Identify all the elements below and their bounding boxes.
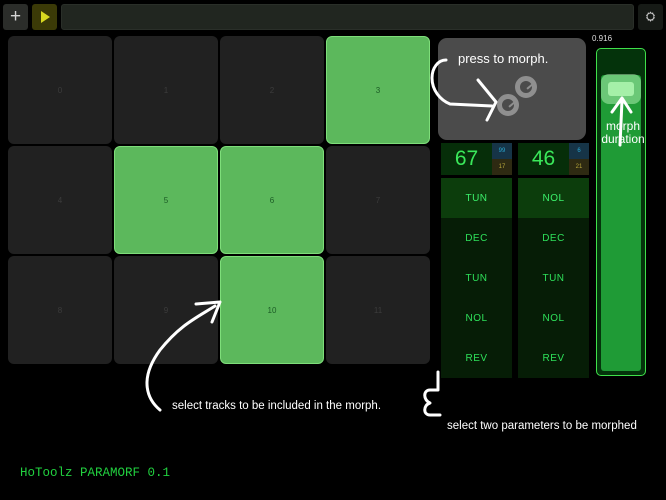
track-cell[interactable]: 2 xyxy=(220,36,324,144)
track-cell-label: 11 xyxy=(374,306,382,315)
slider-handle[interactable] xyxy=(601,74,641,104)
readout-b-badge-top: 6 xyxy=(569,143,589,159)
play-button[interactable] xyxy=(32,4,57,30)
readout-a[interactable]: 67 99 17 xyxy=(441,143,512,175)
annotation-select-params: select two parameters to be morphed xyxy=(447,420,637,432)
readout-a-badges: 99 17 xyxy=(492,143,512,175)
annotation-morph-duration: morph duration xyxy=(592,120,654,146)
annotation-morph-duration-line2: duration xyxy=(592,133,654,146)
app-title-footer: HoToolz PARAMORF 0.1 xyxy=(20,466,170,480)
track-cell-label: 1 xyxy=(164,86,168,95)
knob-tick xyxy=(526,82,534,89)
track-cell-label: 10 xyxy=(268,306,277,315)
parameter-column-b: NOL DEC TUN NOL REV xyxy=(518,178,589,378)
settings-button[interactable] xyxy=(638,4,663,30)
play-icon xyxy=(41,11,50,23)
parameter-column-a: TUN DEC TUN NOL REV xyxy=(441,178,512,378)
track-cell-label: 5 xyxy=(164,196,168,205)
annotation-select-tracks: select tracks to be included in the morp… xyxy=(172,400,381,412)
readout-b-badge-bottom: 21 xyxy=(569,159,589,175)
top-toolbar: + xyxy=(0,0,666,33)
track-cell[interactable]: 6 xyxy=(220,146,324,254)
track-cell[interactable]: 11 xyxy=(326,256,430,364)
track-cell[interactable]: 1 xyxy=(114,36,218,144)
readout-a-badge-bottom: 17 xyxy=(492,159,512,175)
track-cell-label: 7 xyxy=(376,196,380,205)
param-item-a-4[interactable]: REV xyxy=(441,338,512,378)
track-cell-label: 3 xyxy=(376,86,380,95)
track-cell[interactable]: 10 xyxy=(220,256,324,364)
readout-b-value: 46 xyxy=(518,143,569,175)
track-grid: 0 1 2 3 4 5 6 7 8 9 10 11 xyxy=(8,36,432,366)
morph-duration-slider[interactable]: 0.916 xyxy=(596,36,648,378)
track-cell[interactable]: 8 xyxy=(8,256,112,364)
readout-a-value: 67 xyxy=(441,143,492,175)
readout-b[interactable]: 46 6 21 xyxy=(518,143,589,175)
track-cell-label: 0 xyxy=(58,86,62,95)
param-item-a-0[interactable]: TUN xyxy=(441,178,512,218)
track-cell[interactable]: 5 xyxy=(114,146,218,254)
param-item-a-1[interactable]: DEC xyxy=(441,218,512,258)
track-cell[interactable]: 4 xyxy=(8,146,112,254)
param-item-b-0[interactable]: NOL xyxy=(518,178,589,218)
slider-value-label: 0.916 xyxy=(592,34,612,43)
track-cell-label: 6 xyxy=(270,196,274,205)
plus-icon: + xyxy=(10,8,21,26)
knob-tick xyxy=(508,100,516,107)
gear-icon xyxy=(642,8,659,25)
morph-knob-group xyxy=(493,74,553,120)
track-cell[interactable]: 7 xyxy=(326,146,430,254)
knob-dial-icon xyxy=(497,94,519,116)
readout-b-badges: 6 21 xyxy=(569,143,589,175)
param-item-b-2[interactable]: TUN xyxy=(518,258,589,298)
track-cell-label: 2 xyxy=(270,86,274,95)
param-item-b-1[interactable]: DEC xyxy=(518,218,589,258)
track-cell[interactable]: 3 xyxy=(326,36,430,144)
track-cell-label: 9 xyxy=(164,306,168,315)
annotation-press-to-morph: press to morph. xyxy=(458,51,548,66)
track-cell[interactable]: 9 xyxy=(114,256,218,364)
parameter-columns: TUN DEC TUN NOL REV NOL DEC TUN NOL REV xyxy=(441,178,589,378)
param-item-a-3[interactable]: NOL xyxy=(441,298,512,338)
param-item-b-4[interactable]: REV xyxy=(518,338,589,378)
param-item-b-3[interactable]: NOL xyxy=(518,298,589,338)
slider-handle-inner xyxy=(608,82,634,96)
track-cell-label: 8 xyxy=(58,306,62,315)
readout-a-badge-top: 99 xyxy=(492,143,512,159)
toolbar-input[interactable] xyxy=(61,4,634,30)
app-root: + 0 1 2 3 4 5 6 7 8 9 10 11 xyxy=(0,0,666,500)
param-item-a-2[interactable]: TUN xyxy=(441,258,512,298)
knob-dial-icon xyxy=(515,76,537,98)
track-cell[interactable]: 0 xyxy=(8,36,112,144)
track-cell-label: 4 xyxy=(58,196,62,205)
value-readouts: 67 99 17 46 6 21 xyxy=(441,143,589,175)
add-button[interactable]: + xyxy=(3,4,28,30)
slider-track[interactable] xyxy=(596,48,646,376)
